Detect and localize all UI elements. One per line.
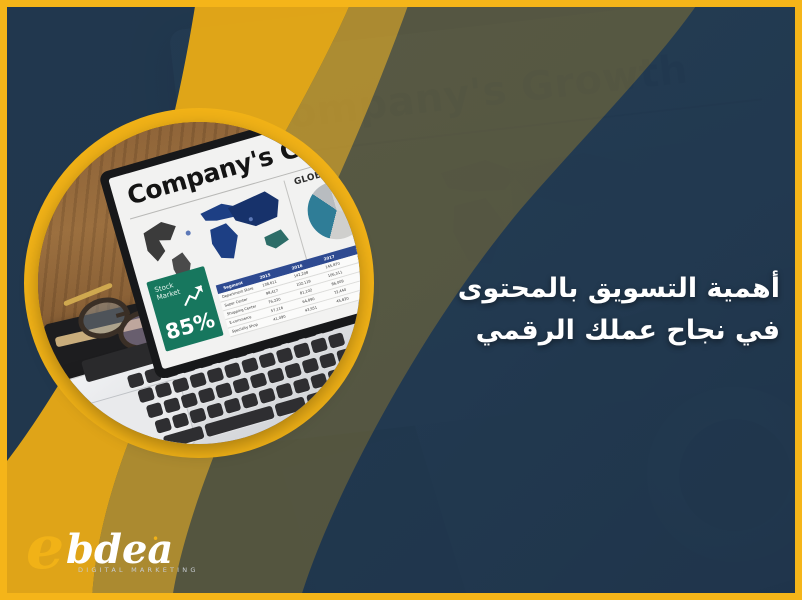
logo-letter-e: e	[26, 518, 64, 578]
trend-up-arrow-icon	[178, 281, 209, 309]
headline-line-2: في نجاح عملك الرقمي	[360, 310, 780, 352]
poster-canvas: Company's Growth	[0, 0, 802, 600]
headline: أهمية التسويق بالمحتوى في نجاح عملك الرق…	[360, 268, 780, 352]
logo-tagline: DIGITAL MARKETING	[78, 566, 199, 574]
stock-market-label: Stock Market	[154, 280, 182, 302]
headline-line-1: أهمية التسويق بالمحتوى	[360, 268, 780, 310]
stock-market-value: 85%	[163, 308, 218, 345]
hero-photo-circle: Company's Growth GLOBAL BUSINESS REVIEW	[38, 122, 360, 444]
logo-dot-icon: •	[152, 532, 159, 546]
pie-chart	[301, 174, 360, 246]
brand-logo: e bdea • DIGITAL MARKETING	[26, 516, 196, 578]
